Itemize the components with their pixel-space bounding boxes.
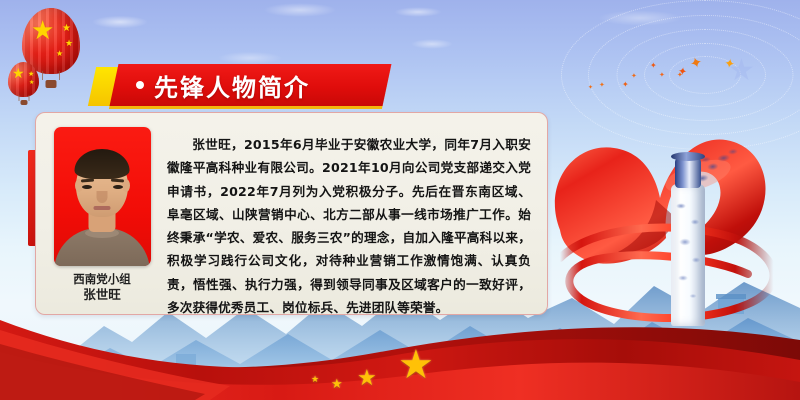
photo-caption: 西南党小组 张世旺	[73, 272, 131, 304]
portrait-photo	[54, 127, 151, 266]
hot-air-balloon-small-icon: ★ ★ ★	[8, 62, 39, 97]
page-title: 先锋人物简介	[136, 64, 310, 106]
bird-icon: ✦	[688, 55, 704, 73]
bird-icon: ✦	[599, 82, 605, 89]
photo-caption-name: 张世旺	[73, 287, 131, 304]
bird-icon: ✦	[650, 62, 657, 70]
bird-icon: ✦	[677, 72, 683, 79]
balloon-star-icon: ★	[62, 24, 71, 34]
bird-icon: ✦	[723, 57, 736, 72]
profile-body-text: 张世旺，2015年6月毕业于安徽农业大学，同年7月入职安徽隆平高科种业有限公司。…	[157, 127, 535, 304]
balloon-star-icon: ★	[28, 71, 34, 78]
bird-icon: ✦	[677, 65, 688, 77]
photo-block: 西南党小组 张世旺	[47, 127, 157, 304]
halo-star-icon: ★	[728, 56, 755, 86]
balloon-star-icon: ★	[56, 50, 63, 58]
page-title-text: 先锋人物简介	[154, 68, 310, 103]
balloon-star-icon: ★	[65, 40, 73, 49]
balloon-star-icon: ★	[12, 67, 25, 81]
profile-card: 西南党小组 张世旺 张世旺，2015年6月毕业于安徽农业大学，同年7月入职安徽隆…	[35, 112, 548, 315]
bird-icon: ✦	[622, 81, 629, 89]
balloon-star-icon: ★	[29, 80, 34, 86]
bird-icon: ✦	[659, 72, 665, 79]
balloon-star-icon: ★	[31, 18, 54, 44]
bird-icon: ✦	[631, 73, 637, 80]
photo-caption-group: 西南党小组	[73, 272, 131, 288]
bullet-dot-icon	[136, 81, 144, 89]
bird-icon: ✦	[588, 85, 593, 91]
poster-canvas: ★ ★ ★ ★ ★ ★ ★ ★ ✦ ✦ ✦ ✦ ✦ ✦ ✦ ✦ ✦ ✦	[0, 0, 800, 400]
